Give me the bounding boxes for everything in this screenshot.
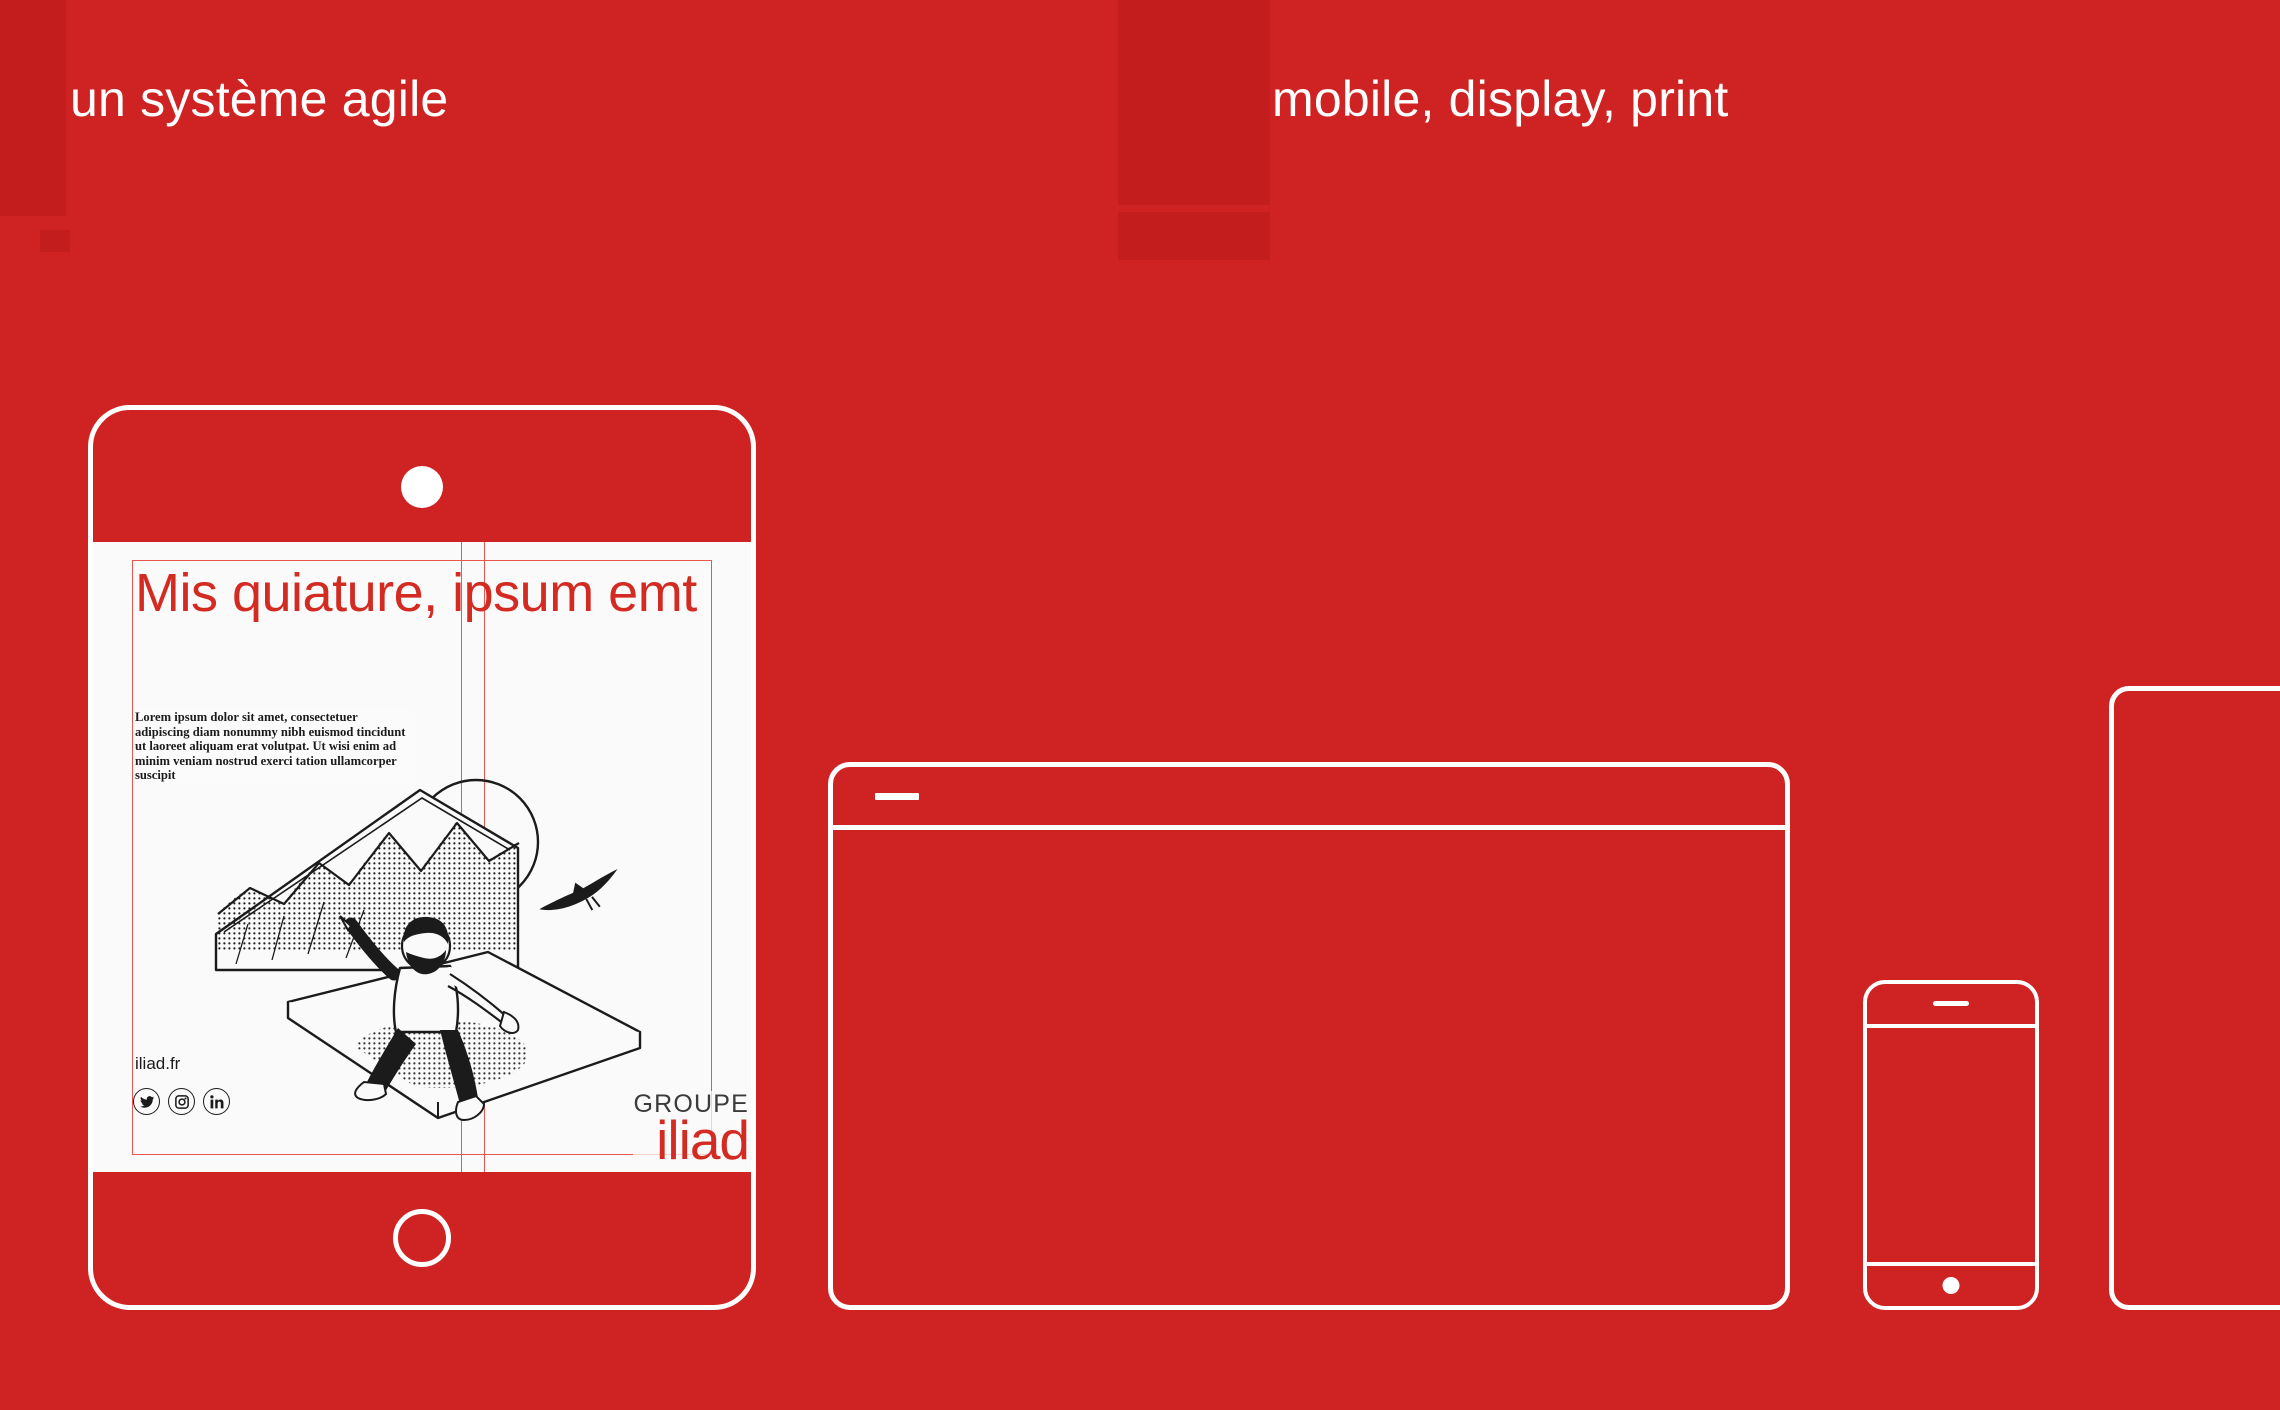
background-tone-block-left-tall — [0, 0, 66, 216]
poster-guide-left — [132, 560, 133, 1154]
tablet-camera-icon — [401, 466, 443, 508]
background-tone-block-left-small — [40, 230, 70, 252]
phone-screen — [1867, 1024, 2035, 1266]
edge-tablet-mockup — [2109, 686, 2280, 1310]
instagram-icon[interactable] — [168, 1088, 195, 1115]
phone-home-button[interactable] — [1943, 1277, 1960, 1294]
poster-headline: Mis quiature, ipsum emt — [135, 564, 735, 622]
tablet-home-button[interactable] — [393, 1209, 451, 1267]
linkedin-icon[interactable] — [203, 1088, 230, 1115]
poster-artwork: Mis quiature, ipsum emt Lorem ipsum dolo… — [93, 542, 751, 1172]
desktop-window-mockup — [828, 762, 1790, 1310]
slide-canvas: un système agile mobile, display, print — [0, 0, 2280, 1410]
phone-speaker-icon — [1933, 1001, 1969, 1006]
twitter-icon[interactable] — [133, 1088, 160, 1115]
poster-guide-right — [711, 560, 712, 1154]
background-tone-block-right-small — [1118, 212, 1270, 260]
poster-guide-top — [132, 560, 711, 561]
poster-body-text: Lorem ipsum dolor sit amet, consectetuer… — [135, 710, 415, 783]
background-tone-block-right-tall — [1118, 0, 1270, 205]
heading-left: un système agile — [70, 70, 448, 128]
minimize-icon[interactable] — [875, 793, 919, 800]
desktop-window-titlebar — [833, 767, 1785, 830]
iliad-logo: GROUPE iliad — [633, 1091, 749, 1164]
phone-mockup — [1863, 980, 2039, 1310]
logo-iliad-text: iliad — [633, 1116, 749, 1164]
tablet-mockup: Mis quiature, ipsum emt Lorem ipsum dolo… — [88, 405, 756, 1310]
poster-guide-bottom — [132, 1154, 711, 1155]
poster-url: iliad.fr — [135, 1054, 180, 1074]
heading-right: mobile, display, print — [1272, 70, 1728, 128]
social-links — [133, 1088, 230, 1115]
